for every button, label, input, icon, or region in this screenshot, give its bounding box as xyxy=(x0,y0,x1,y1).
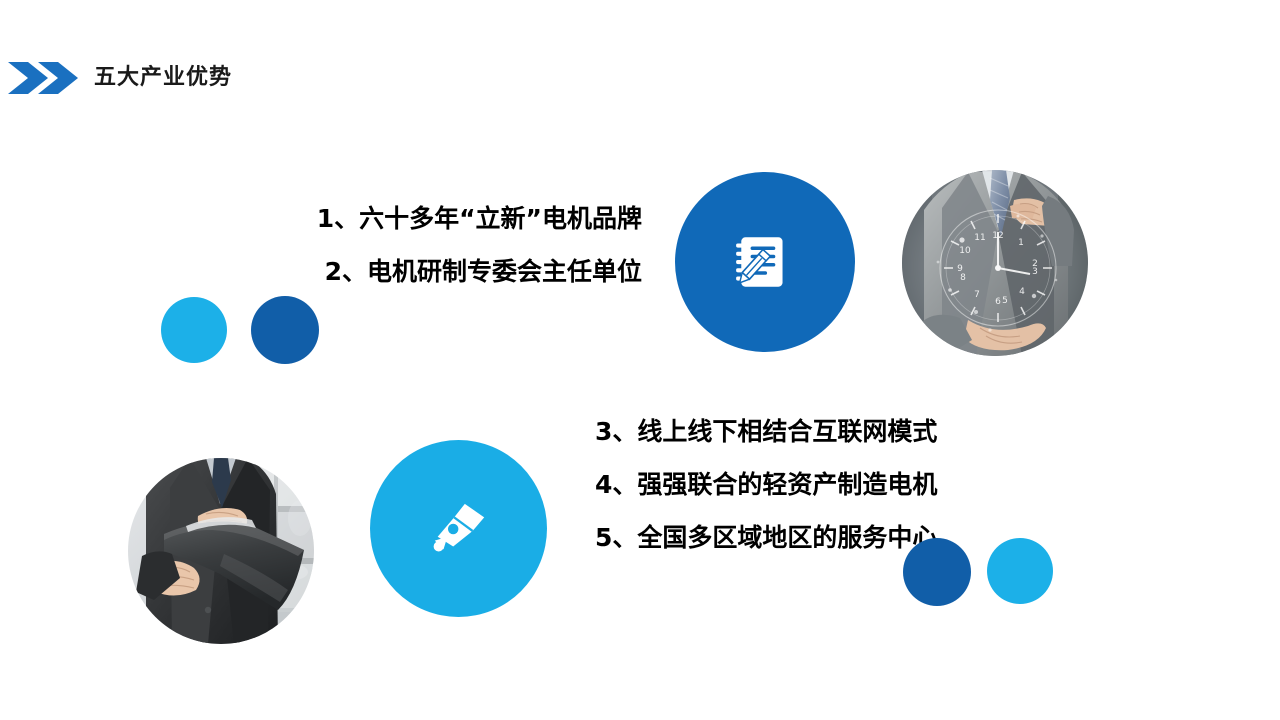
svg-text:3: 3 xyxy=(1032,267,1038,277)
svg-text:7: 7 xyxy=(974,290,980,300)
svg-text:11: 11 xyxy=(974,233,985,243)
notepad-pencil-icon xyxy=(732,229,798,295)
list-item: 2、电机研制专委会主任单位 xyxy=(180,245,642,298)
decor-circle xyxy=(903,538,971,606)
list-item: 3、线上线下相结合互联网模式 xyxy=(595,405,995,458)
advantages-top-list: 1、六十多年“立新”电机品牌 2、电机研制专委会主任单位 xyxy=(180,192,642,298)
svg-text:5: 5 xyxy=(1002,296,1008,306)
svg-text:10: 10 xyxy=(959,246,971,256)
svg-text:6: 6 xyxy=(995,297,1001,307)
slide-canvas: 五大产业优势 1、六十多年“立新”电机品牌 2、电机研制专委会主任单位 3、线上… xyxy=(0,0,1280,720)
pen-icon-circle xyxy=(370,440,547,617)
businessman-holographic-clock-photo: 12 1 2 3 4 5 6 7 8 9 10 11 xyxy=(902,170,1088,356)
decor-circle xyxy=(987,538,1053,604)
businessman-open-folder-photo xyxy=(128,458,314,644)
fountain-pen-nib-icon xyxy=(428,498,490,560)
svg-text:1: 1 xyxy=(1018,238,1024,248)
page-title: 五大产业优势 xyxy=(94,67,232,89)
svg-text:9: 9 xyxy=(957,264,963,274)
notepad-icon-circle xyxy=(675,172,855,352)
svg-text:4: 4 xyxy=(1019,287,1025,297)
svg-text:8: 8 xyxy=(960,273,966,283)
decor-circle xyxy=(251,296,319,364)
slide-header: 五大产业优势 xyxy=(0,55,232,101)
list-item: 1、六十多年“立新”电机品牌 xyxy=(180,192,642,245)
double-chevron-right-icon xyxy=(6,58,78,98)
list-item: 4、强强联合的轻资产制造电机 xyxy=(595,458,995,511)
decor-circle xyxy=(161,297,227,363)
